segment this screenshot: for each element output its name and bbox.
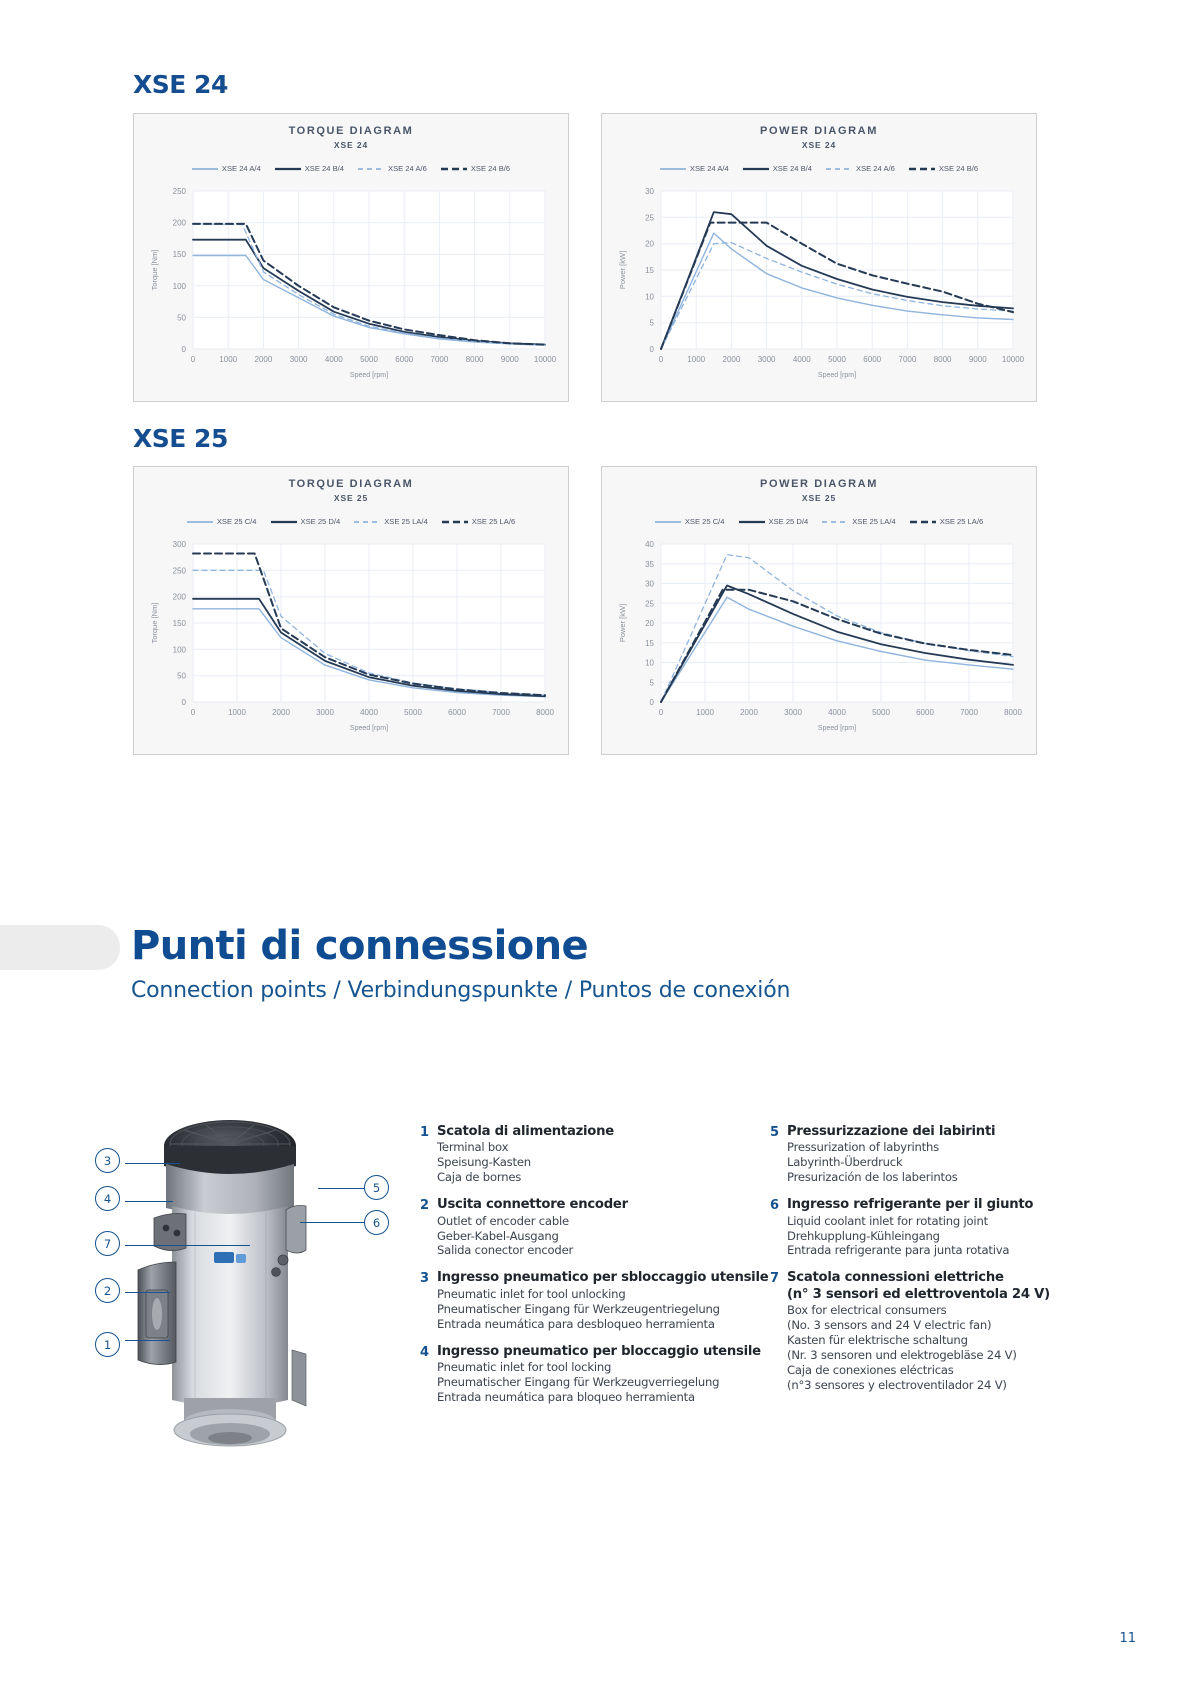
svg-text:20: 20 (645, 619, 654, 628)
svg-text:30: 30 (645, 187, 654, 196)
connection-label-de: Pneumatischer Eingang für Werkzeugentrie… (437, 1302, 770, 1317)
svg-text:250: 250 (173, 566, 187, 575)
connection-item: 3Ingresso pneumatico per sbloccaggio ute… (420, 1270, 770, 1331)
legend-item: XSE 25 C/4 (187, 512, 257, 530)
legend-item: XSE 24 B/4 (743, 159, 812, 177)
legend-label: XSE 25 D/4 (769, 517, 809, 526)
connection-label-en: Pressurization of labyrinths (787, 1140, 1110, 1155)
connection-label-it: Scatola di alimentazione (437, 1124, 770, 1140)
legend-label: XSE 24 A/4 (222, 164, 261, 173)
legend-label: XSE 24 B/4 (305, 164, 344, 173)
svg-text:5000: 5000 (360, 355, 378, 364)
svg-text:6000: 6000 (916, 708, 934, 717)
legend-swatch (358, 159, 384, 177)
chart-title: TORQUE DIAGRAM (134, 478, 568, 490)
connection-label-it: Ingresso refrigerante per il giunto (787, 1197, 1110, 1213)
legend-item: XSE 25 LA/4 (354, 512, 427, 530)
svg-text:0: 0 (191, 708, 196, 717)
chart-panel-power-xse24: POWER DIAGRAMXSE 24XSE 24 A/4XSE 24 B/4X… (601, 113, 1037, 402)
callout-4[interactable]: 4 (95, 1186, 120, 1211)
legend-swatch (187, 512, 213, 530)
legend-swatch (909, 159, 935, 177)
callout-2[interactable]: 2 (95, 1278, 120, 1303)
connection-item: 5Pressurizzazione dei labirintiPressuriz… (770, 1124, 1110, 1185)
connection-label-es: Caja de conexiones eléctricas (787, 1363, 1110, 1378)
chart-panel-power-xse25: POWER DIAGRAMXSE 25XSE 25 C/4XSE 25 D/4X… (601, 466, 1037, 755)
legend-item: XSE 24 A/4 (192, 159, 261, 177)
connection-item: 2Uscita connettore encoderOutlet of enco… (420, 1197, 770, 1258)
chart-legend: XSE 24 A/4XSE 24 B/4XSE 24 A/6XSE 24 B/6 (134, 159, 568, 177)
svg-text:2000: 2000 (255, 355, 273, 364)
svg-text:9000: 9000 (969, 355, 987, 364)
svg-text:4000: 4000 (793, 355, 811, 364)
svg-text:7000: 7000 (492, 708, 510, 717)
legend-swatch (743, 159, 769, 177)
svg-text:150: 150 (173, 619, 187, 628)
callout-6[interactable]: 6 (364, 1210, 389, 1235)
legend-item: XSE 25 LA/4 (822, 512, 895, 530)
svg-text:200: 200 (173, 593, 187, 602)
legend-item: XSE 25 LA/6 (442, 512, 515, 530)
connection-label-en: Pneumatic inlet for tool unlocking (437, 1287, 770, 1302)
connection-label-en: Box for electrical consumers (787, 1303, 1110, 1318)
chart-header: TORQUE DIAGRAMXSE 24XSE 24 A/4XSE 24 B/4… (134, 114, 568, 177)
svg-text:10: 10 (645, 292, 654, 301)
svg-text:6000: 6000 (448, 708, 466, 717)
svg-text:100: 100 (173, 282, 187, 291)
legend-label: XSE 25 LA/6 (940, 517, 983, 526)
page-number: 11 (1119, 1631, 1136, 1646)
svg-text:5000: 5000 (404, 708, 422, 717)
legend-label: XSE 25 LA/4 (852, 517, 895, 526)
svg-text:25: 25 (645, 213, 654, 222)
connection-number: 7 (770, 1270, 787, 1392)
svg-text:0: 0 (650, 345, 655, 354)
connection-label-de: Labyrinth-Überdruck (787, 1155, 1110, 1170)
svg-text:Power [kW]: Power [kW] (618, 251, 627, 289)
connection-label-en: Outlet of encoder cable (437, 1214, 770, 1229)
svg-text:5: 5 (650, 319, 655, 328)
legend-label: XSE 24 A/4 (690, 164, 729, 173)
svg-text:0: 0 (650, 698, 655, 707)
connection-label-es: Caja de bornes (437, 1170, 770, 1185)
svg-text:2000: 2000 (740, 708, 758, 717)
legend-swatch (441, 159, 467, 177)
svg-text:Torque [Nm]: Torque [Nm] (150, 603, 159, 644)
svg-text:7000: 7000 (431, 355, 449, 364)
svg-text:Speed [rpm]: Speed [rpm] (818, 372, 856, 379)
legend-item: XSE 24 B/6 (441, 159, 510, 177)
connection-label-de: Geber-Kabel-Ausgang (437, 1229, 770, 1244)
svg-text:10000: 10000 (534, 355, 557, 364)
svg-text:150: 150 (173, 250, 187, 259)
legend-swatch (826, 159, 852, 177)
svg-text:8000: 8000 (466, 355, 484, 364)
svg-text:Speed [rpm]: Speed [rpm] (350, 725, 388, 732)
connection-text: Scatola connessioni elettriche(n° 3 sens… (787, 1270, 1110, 1392)
model-heading-xse24: XSE 24 (133, 70, 228, 99)
svg-text:2000: 2000 (723, 355, 741, 364)
svg-text:10: 10 (645, 659, 654, 668)
connection-label-en: Liquid coolant inlet for rotating joint (787, 1214, 1110, 1229)
legend-swatch (275, 159, 301, 177)
legend-label: XSE 24 A/6 (388, 164, 427, 173)
plot-area: 0510152025300100020003000400050006000700… (611, 183, 1027, 383)
leader-line-1 (125, 1340, 170, 1341)
connection-text: Uscita connettore encoderOutlet of encod… (437, 1197, 770, 1258)
svg-text:3000: 3000 (758, 355, 776, 364)
callout-7[interactable]: 7 (95, 1231, 120, 1256)
chart-header: POWER DIAGRAMXSE 24XSE 24 A/4XSE 24 B/4X… (602, 114, 1036, 177)
connection-label-en-2: (No. 3 sensors and 24 V electric fan) (787, 1318, 1110, 1333)
leader-line-3 (125, 1163, 180, 1164)
svg-text:6000: 6000 (395, 355, 413, 364)
legend-swatch (271, 512, 297, 530)
svg-text:0: 0 (659, 708, 664, 717)
legend-label: XSE 24 B/6 (471, 164, 510, 173)
svg-text:7000: 7000 (960, 708, 978, 717)
svg-text:4000: 4000 (325, 355, 343, 364)
connection-label-de-2: (Nr. 3 sensoren und elektrogebläse 24 V) (787, 1348, 1110, 1363)
leader-line-5 (318, 1188, 366, 1189)
svg-text:4000: 4000 (828, 708, 846, 717)
legend-swatch (655, 512, 681, 530)
connection-label-es: Presurización de los laberintos (787, 1170, 1110, 1185)
svg-text:5000: 5000 (872, 708, 890, 717)
leader-line-2 (125, 1292, 170, 1293)
connection-label-it: Pressurizzazione dei labirinti (787, 1124, 1110, 1140)
callout-3[interactable]: 3 (95, 1148, 120, 1173)
chart-header: TORQUE DIAGRAMXSE 25XSE 25 C/4XSE 25 D/4… (134, 467, 568, 530)
legend-item: XSE 24 A/6 (358, 159, 427, 177)
connection-label-it: Ingresso pneumatico per bloccaggio utens… (437, 1344, 770, 1360)
connection-number: 2 (420, 1197, 437, 1258)
connection-number: 4 (420, 1344, 437, 1405)
svg-text:1000: 1000 (696, 708, 714, 717)
legend-item: XSE 25 C/4 (655, 512, 725, 530)
chart-legend: XSE 24 A/4XSE 24 B/4XSE 24 A/6XSE 24 B/6 (602, 159, 1036, 177)
svg-text:0: 0 (182, 698, 187, 707)
callout-5[interactable]: 5 (364, 1175, 389, 1200)
connection-label-en: Terminal box (437, 1140, 770, 1155)
svg-text:1000: 1000 (219, 355, 237, 364)
svg-text:1000: 1000 (228, 708, 246, 717)
svg-text:8000: 8000 (536, 708, 554, 717)
svg-text:10000: 10000 (1002, 355, 1025, 364)
svg-text:Speed [rpm]: Speed [rpm] (818, 725, 856, 732)
section-accent-tab (0, 925, 120, 970)
svg-text:6000: 6000 (863, 355, 881, 364)
svg-text:3000: 3000 (316, 708, 334, 717)
connection-text: Pressurizzazione dei labirintiPressuriza… (787, 1124, 1110, 1185)
connection-number: 6 (770, 1197, 787, 1258)
connection-text: Ingresso pneumatico per bloccaggio utens… (437, 1344, 770, 1405)
connection-label-it-2: (n° 3 sensori ed elettroventola 24 V) (787, 1287, 1110, 1303)
svg-text:2000: 2000 (272, 708, 290, 717)
connection-label-it: Scatola connessioni elettriche (787, 1270, 1110, 1286)
leader-line-4 (125, 1201, 173, 1202)
svg-text:Power [kW]: Power [kW] (618, 604, 627, 642)
svg-text:200: 200 (173, 219, 187, 228)
leader-line-7 (125, 1245, 250, 1246)
connection-label-de: Speisung-Kasten (437, 1155, 770, 1170)
spindle-illustration (80, 1100, 410, 1460)
legend-item: XSE 25 D/4 (739, 512, 809, 530)
chart-panel-torque-xse25: TORQUE DIAGRAMXSE 25XSE 25 C/4XSE 25 D/4… (133, 466, 569, 755)
chart-subtitle: XSE 24 (602, 140, 1036, 150)
chart-panel-torque-xse24: TORQUE DIAGRAMXSE 24XSE 24 A/4XSE 24 B/4… (133, 113, 569, 402)
svg-text:8000: 8000 (934, 355, 952, 364)
model-heading-xse25: XSE 25 (133, 424, 228, 453)
svg-text:Speed [rpm]: Speed [rpm] (350, 372, 388, 379)
chart-subtitle: XSE 25 (134, 493, 568, 503)
callout-1[interactable]: 1 (95, 1332, 120, 1357)
plot-area: 0501001502002500100020003000400050006000… (143, 183, 559, 383)
chart-header: POWER DIAGRAMXSE 25XSE 25 C/4XSE 25 D/4X… (602, 467, 1036, 530)
leader-line-6 (300, 1222, 365, 1223)
connection-text: Ingresso pneumatico per sbloccaggio uten… (437, 1270, 770, 1331)
legend-item: XSE 25 LA/6 (910, 512, 983, 530)
legend-label: XSE 25 C/4 (217, 517, 257, 526)
legend-swatch (442, 512, 468, 530)
svg-text:25: 25 (645, 599, 654, 608)
svg-text:0: 0 (659, 355, 664, 364)
svg-text:15: 15 (645, 639, 654, 648)
legend-label: XSE 24 B/4 (773, 164, 812, 173)
svg-text:5000: 5000 (828, 355, 846, 364)
connection-number: 5 (770, 1124, 787, 1185)
connection-label-es: Entrada neumática para bloqueo herramien… (437, 1390, 770, 1405)
legend-label: XSE 25 LA/4 (384, 517, 427, 526)
svg-text:250: 250 (173, 187, 187, 196)
legend-swatch (192, 159, 218, 177)
page-subtitle: Connection points / Verbindungspunkte / … (131, 978, 790, 1003)
svg-text:30: 30 (645, 580, 654, 589)
legend-item: XSE 24 B/6 (909, 159, 978, 177)
chart-legend: XSE 25 C/4XSE 25 D/4XSE 25 LA/4XSE 25 LA… (602, 512, 1036, 530)
legend-label: XSE 25 LA/6 (472, 517, 515, 526)
legend-label: XSE 25 C/4 (685, 517, 725, 526)
connection-label-es: Entrada neumática para desbloqueo herram… (437, 1317, 770, 1332)
svg-text:0: 0 (182, 345, 187, 354)
svg-text:9000: 9000 (501, 355, 519, 364)
legend-swatch (739, 512, 765, 530)
connection-label-it: Uscita connettore encoder (437, 1197, 770, 1213)
chart-legend: XSE 25 C/4XSE 25 D/4XSE 25 LA/4XSE 25 LA… (134, 512, 568, 530)
legend-item: XSE 24 A/6 (826, 159, 895, 177)
connection-item: 1Scatola di alimentazioneTerminal boxSpe… (420, 1124, 770, 1185)
legend-label: XSE 25 D/4 (301, 517, 341, 526)
svg-text:0: 0 (191, 355, 196, 364)
svg-text:7000: 7000 (899, 355, 917, 364)
connection-text: Scatola di alimentazioneTerminal boxSpei… (437, 1124, 770, 1185)
legend-item: XSE 25 D/4 (271, 512, 341, 530)
svg-text:300: 300 (173, 540, 187, 549)
connection-label-en: Pneumatic inlet for tool locking (437, 1360, 770, 1375)
svg-text:8000: 8000 (1004, 708, 1022, 717)
chart-title: POWER DIAGRAM (602, 478, 1036, 490)
svg-text:50: 50 (177, 313, 186, 322)
legend-swatch (910, 512, 936, 530)
connection-label-de: Kasten für elektrische schaltung (787, 1333, 1110, 1348)
chart-title: POWER DIAGRAM (602, 125, 1036, 137)
plot-area: 0510152025303540010002000300040005000600… (611, 536, 1027, 736)
svg-text:5: 5 (650, 678, 655, 687)
legend-label: XSE 24 A/6 (856, 164, 895, 173)
svg-text:100: 100 (173, 645, 187, 654)
connection-label-es-2: (n°3 sensores y electroventilador 24 V) (787, 1378, 1110, 1393)
connection-item: 7Scatola connessioni elettriche(n° 3 sen… (770, 1270, 1110, 1392)
svg-text:Torque [Nm]: Torque [Nm] (150, 250, 159, 291)
legend-label: XSE 24 B/6 (939, 164, 978, 173)
svg-text:40: 40 (645, 540, 654, 549)
connection-item: 4Ingresso pneumatico per bloccaggio uten… (420, 1344, 770, 1405)
connection-label-de: Pneumatischer Eingang für Werkzeugverrie… (437, 1375, 770, 1390)
connection-list-right: 5Pressurizzazione dei labirintiPressuriz… (770, 1124, 1110, 1405)
legend-swatch (354, 512, 380, 530)
svg-text:4000: 4000 (360, 708, 378, 717)
connection-number: 1 (420, 1124, 437, 1185)
svg-text:15: 15 (645, 266, 654, 275)
legend-swatch (660, 159, 686, 177)
legend-swatch (822, 512, 848, 530)
svg-text:3000: 3000 (784, 708, 802, 717)
svg-text:20: 20 (645, 240, 654, 249)
connection-label-es: Salida conector encoder (437, 1243, 770, 1258)
svg-text:1000: 1000 (687, 355, 705, 364)
chart-subtitle: XSE 25 (602, 493, 1036, 503)
chart-subtitle: XSE 24 (134, 140, 568, 150)
svg-text:50: 50 (177, 672, 186, 681)
svg-text:35: 35 (645, 560, 654, 569)
connection-text: Ingresso refrigerante per il giuntoLiqui… (787, 1197, 1110, 1258)
connection-label-it: Ingresso pneumatico per sbloccaggio uten… (437, 1270, 770, 1286)
chart-title: TORQUE DIAGRAM (134, 125, 568, 137)
legend-item: XSE 24 A/4 (660, 159, 729, 177)
connection-label-de: Drehkupplung-Kühleingang (787, 1229, 1110, 1244)
connection-label-es: Entrada refrigerante para junta rotativa (787, 1243, 1110, 1258)
connection-list-left: 1Scatola di alimentazioneTerminal boxSpe… (420, 1124, 770, 1417)
legend-item: XSE 24 B/4 (275, 159, 344, 177)
plot-area: 0501001502002503000100020003000400050006… (143, 536, 559, 736)
svg-text:3000: 3000 (290, 355, 308, 364)
connection-number: 3 (420, 1270, 437, 1331)
page-title: Punti di connessione (131, 923, 588, 969)
connection-item: 6Ingresso refrigerante per il giuntoLiqu… (770, 1197, 1110, 1258)
